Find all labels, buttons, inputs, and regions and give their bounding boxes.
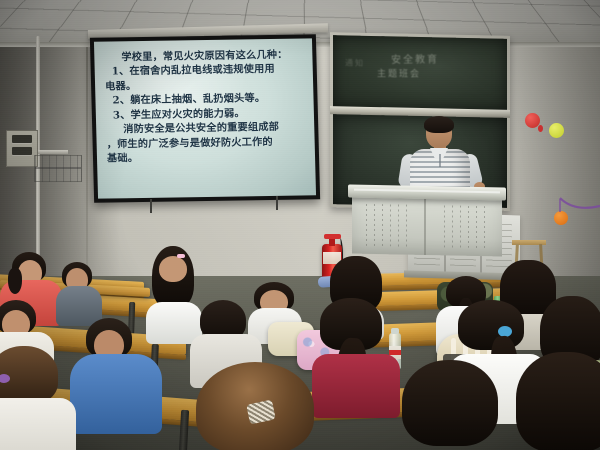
podium-seam bbox=[424, 197, 426, 255]
classroom-photo: 学校里，常见火灾原因有这么几种： 1、在宿舍内乱拉电线或违规使用用 电器。 2、… bbox=[0, 0, 600, 450]
podium-body bbox=[352, 196, 502, 257]
chalk-text-3: 通知 bbox=[345, 57, 365, 68]
screen-support-rod-2 bbox=[276, 196, 278, 210]
teacher-placket bbox=[439, 154, 441, 167]
outlet-panel bbox=[34, 155, 82, 182]
slide-closing-3: 基础。 bbox=[107, 149, 307, 167]
extinguisher-neck bbox=[329, 238, 335, 246]
hair-clip bbox=[177, 254, 185, 258]
conduit-branch bbox=[36, 150, 68, 154]
teacher-hair bbox=[424, 116, 454, 133]
extinguisher-handle bbox=[324, 234, 341, 239]
blackboard-upper-panel: 通知 安全教育 主题班会 bbox=[333, 35, 507, 111]
slide-text-block: 学校里，常见火灾原因有这么几种： 1、在宿舍内乱拉电线或违规使用用 电器。 2、… bbox=[94, 38, 315, 166]
purple-streamer bbox=[558, 196, 600, 228]
yellow-balloon-icon bbox=[549, 123, 564, 138]
red-balloon-icon bbox=[525, 113, 540, 128]
wall-corner-seam bbox=[86, 28, 88, 300]
chalk-text-2: 主题班会 bbox=[377, 66, 421, 79]
screen-support-rod bbox=[150, 199, 152, 213]
chalk-text-1: 安全教育 bbox=[391, 51, 439, 67]
screen-surface: 学校里，常见火灾原因有这么几种： 1、在宿舍内乱拉电线或违规使用用 电器。 2、… bbox=[94, 38, 316, 198]
projection-screen: 学校里，常见火灾原因有这么几种： 1、在宿舍内乱拉电线或违规使用用 电器。 2、… bbox=[90, 34, 320, 202]
bottle-cap bbox=[391, 328, 399, 334]
